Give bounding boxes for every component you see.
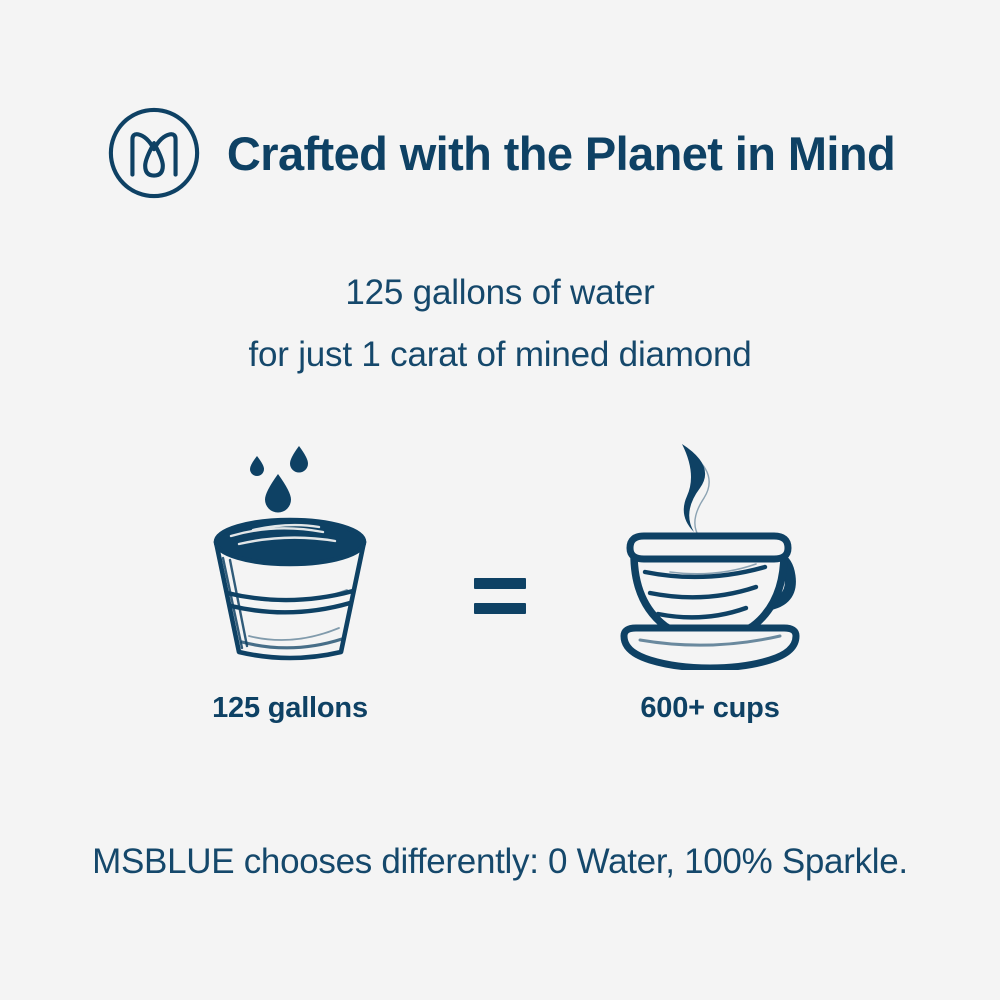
subtitle-line-1: 125 gallons of water bbox=[0, 262, 1000, 324]
subtitle-block: 125 gallons of water for just 1 carat of… bbox=[0, 262, 1000, 386]
bucket-caption: 125 gallons bbox=[212, 692, 368, 725]
footer: MSBLUE chooses differently: 0 Water, 100… bbox=[0, 842, 1000, 882]
coffee-cup-icon bbox=[610, 430, 810, 670]
footer-tagline: MSBLUE chooses differently: 0 Water, 100… bbox=[0, 842, 1000, 882]
header: Crafted with the Planet in Mind bbox=[0, 104, 1000, 202]
infographic-canvas: Crafted with the Planet in Mind 125 gall… bbox=[0, 0, 1000, 1000]
cup-caption: 600+ cups bbox=[640, 692, 779, 725]
equals-bar-bottom bbox=[474, 603, 526, 614]
bucket-art bbox=[195, 430, 385, 670]
cup-art bbox=[610, 430, 810, 670]
comparison-row: 125 gallons bbox=[0, 430, 1000, 725]
equals-bar-top bbox=[474, 578, 526, 589]
comparison-left: 125 gallons bbox=[140, 430, 440, 725]
comparison-right: 600+ cups bbox=[560, 430, 860, 725]
subtitle-line-2: for just 1 carat of mined diamond bbox=[0, 324, 1000, 386]
msblue-monogram-icon bbox=[105, 104, 203, 202]
equals-sign bbox=[440, 578, 560, 614]
water-bucket-icon bbox=[195, 430, 385, 670]
page-title: Crafted with the Planet in Mind bbox=[227, 130, 895, 177]
